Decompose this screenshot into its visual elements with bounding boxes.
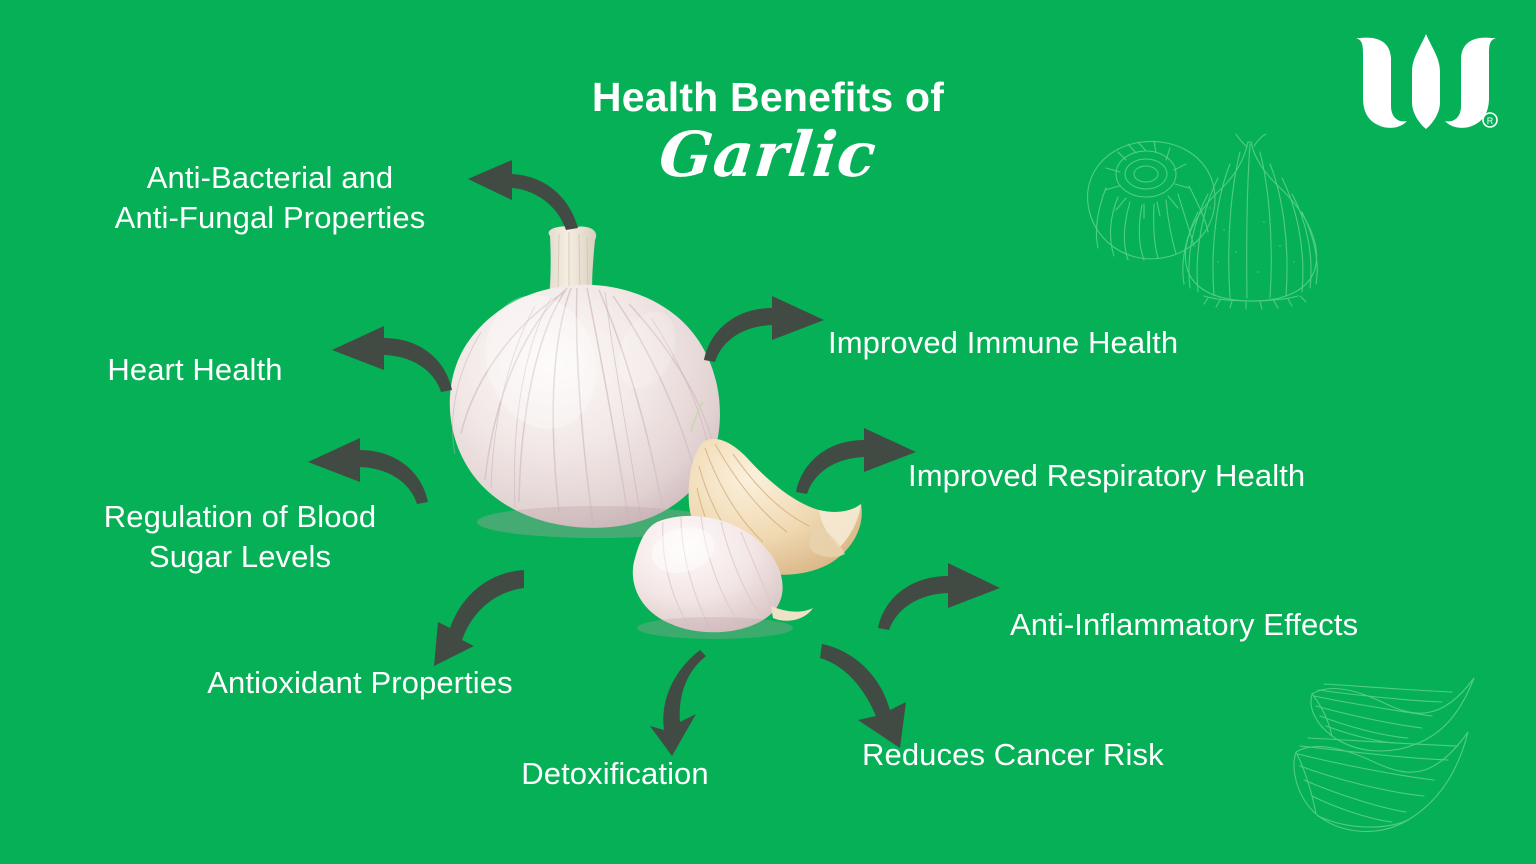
garlic-benefits-infographic: R Health Benefits of Garlic: [0, 0, 1536, 864]
benefit-label-respiratory-health: Improved Respiratory Health: [908, 456, 1448, 496]
garlic-bulbs-lineart-icon: [1058, 112, 1358, 312]
svg-text:R: R: [1487, 116, 1494, 126]
benefit-label-immune-health: Improved Immune Health: [828, 323, 1308, 363]
benefit-label-cancer-risk: Reduces Cancer Risk: [862, 735, 1262, 775]
benefit-label-blood-sugar: Regulation of Blood Sugar Levels: [40, 497, 440, 576]
benefit-label-antioxidant: Antioxidant Properties: [140, 663, 580, 703]
garlic-bulb-photo: [415, 222, 920, 642]
benefit-label-detoxification: Detoxification: [470, 754, 760, 794]
benefit-label-heart-health: Heart Health: [60, 350, 330, 390]
garlic-cloves-lineart-icon: [1282, 648, 1536, 864]
arrow-curved-down-icon: [626, 648, 734, 758]
w-logo: R: [1352, 28, 1500, 138]
benefit-label-anti-inflammatory: Anti-Inflammatory Effects: [1010, 605, 1490, 645]
benefit-label-antibacterial: Anti-Bacterial and Anti-Fungal Propertie…: [60, 158, 480, 237]
arrow-curved-down-right-icon: [818, 638, 934, 750]
title-line-primary: Health Benefits of: [0, 76, 1536, 119]
arrow-curved-left-icon: [302, 434, 430, 506]
